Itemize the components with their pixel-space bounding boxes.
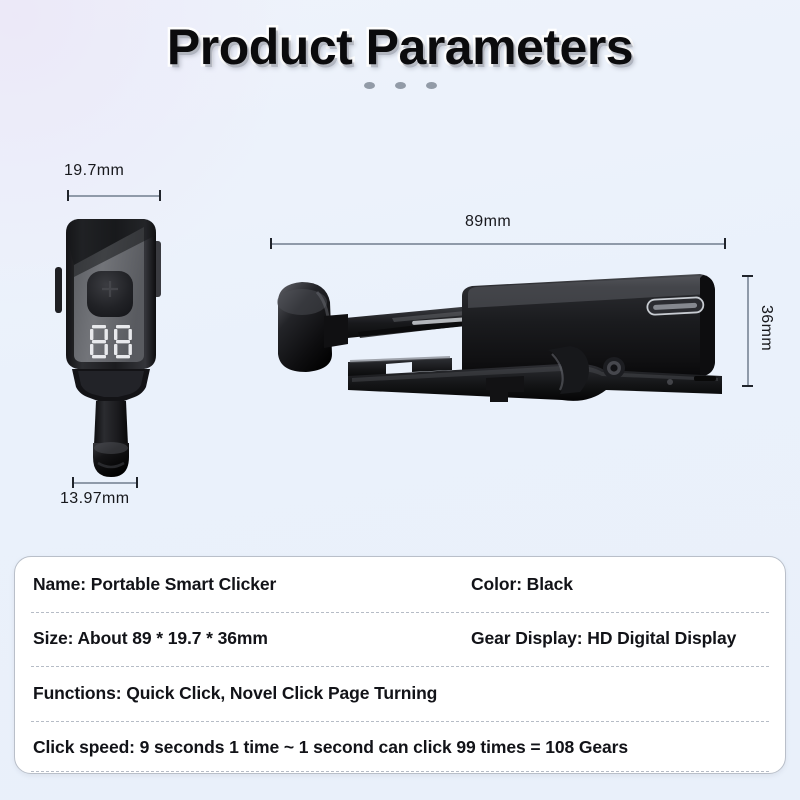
dimension-label-length: 89mm bbox=[465, 213, 511, 231]
dimension-line-length bbox=[270, 238, 726, 249]
spec-color-value: Color: Black bbox=[471, 574, 573, 595]
spec-row: Functions: Quick Click, Novel Click Page… bbox=[15, 666, 785, 721]
spec-name-value: Name: Portable Smart Clicker bbox=[33, 574, 276, 595]
dimension-label-height: 36mm bbox=[757, 305, 775, 351]
spec-separator bbox=[31, 771, 769, 772]
spec-row: Name: Portable Smart Clicker Color: Blac… bbox=[15, 557, 785, 612]
spec-gear-display-value: Gear Display: HD Digital Display bbox=[471, 628, 736, 649]
dimension-line-width-bottom bbox=[72, 477, 138, 488]
dimension-label-width-top: 19.7mm bbox=[64, 162, 124, 180]
pivot-screw bbox=[603, 357, 625, 379]
dimension-line-height bbox=[742, 275, 753, 387]
front-view-graphic bbox=[38, 205, 228, 505]
dimension-label-width-bottom: 13.97mm bbox=[60, 490, 130, 508]
spec-size-value: Size: About 89 * 19.7 * 36mm bbox=[33, 628, 268, 649]
specification-card: Name: Portable Smart Clicker Color: Blac… bbox=[14, 556, 786, 774]
spec-row: Size: About 89 * 19.7 * 36mm Gear Displa… bbox=[15, 612, 785, 667]
usb-c-port bbox=[647, 297, 704, 315]
side-view-graphic bbox=[262, 258, 742, 438]
spec-row: Click speed: 9 seconds 1 time ~ 1 second… bbox=[15, 721, 785, 775]
dimension-line-width-top bbox=[67, 190, 161, 201]
spec-click-speed-value: Click speed: 9 seconds 1 time ~ 1 second… bbox=[33, 737, 628, 758]
spec-functions-value: Functions: Quick Click, Novel Click Page… bbox=[33, 683, 437, 704]
